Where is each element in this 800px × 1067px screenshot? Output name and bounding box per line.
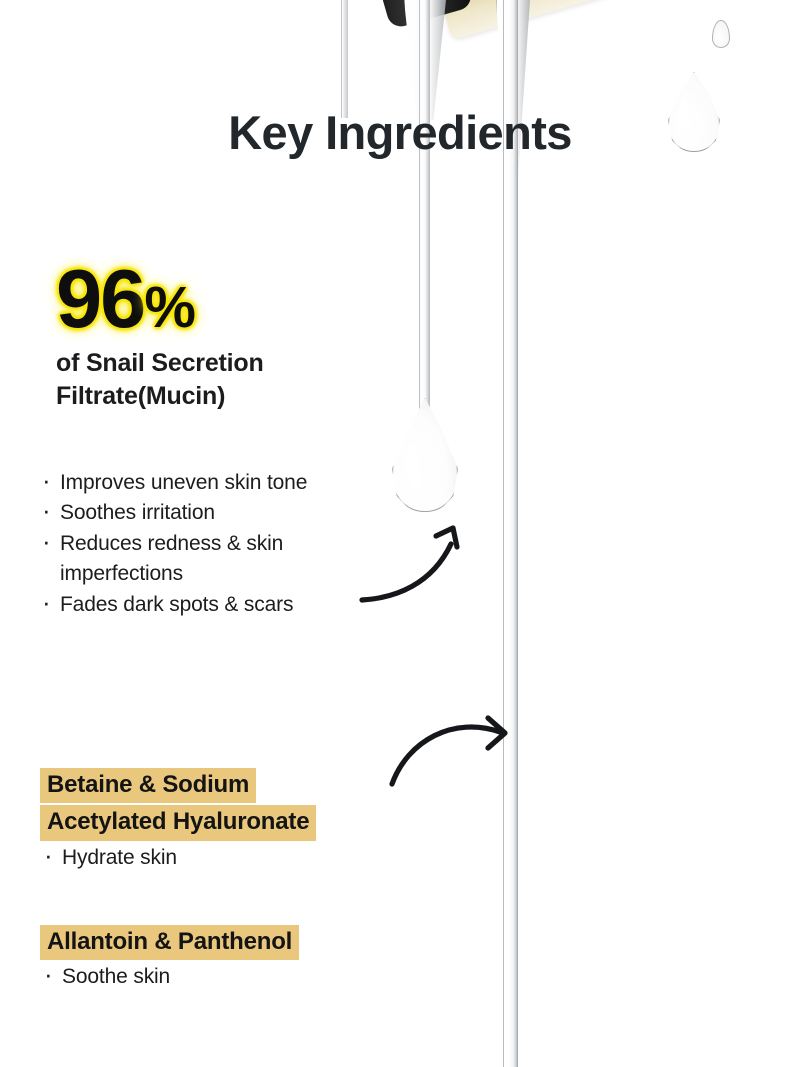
mucin-subtitle-line-2: Filtrate(Mucin) bbox=[56, 380, 416, 413]
ingredient-allantoin-benefit-list: Soothe skin bbox=[40, 962, 460, 992]
ingredient-allantoin-name-line-1: Allantoin & Panthenol bbox=[40, 925, 299, 960]
content-layer: Key Ingredients 96% of Snail Secretion F… bbox=[0, 0, 800, 1067]
list-item: Reduces redness & skin imperfections bbox=[38, 529, 398, 590]
list-item: Fades dark spots & scars bbox=[38, 590, 398, 620]
list-item: Soothes irritation bbox=[38, 498, 398, 528]
mucin-subtitle: of Snail Secretion Filtrate(Mucin) bbox=[56, 347, 416, 413]
list-item: Soothe skin bbox=[40, 962, 460, 992]
mucin-benefit-list: Improves uneven skin tone Soothes irrita… bbox=[38, 468, 398, 620]
mucin-percentage-value: 96 bbox=[56, 252, 144, 345]
ingredient-allantoin-block: Allantoin & Panthenol Soothe skin bbox=[40, 925, 460, 993]
mucin-percentage: 96% bbox=[56, 261, 416, 337]
ingredient-betaine-name-line-1: Betaine & Sodium bbox=[40, 768, 256, 803]
page-title: Key Ingredients bbox=[0, 106, 800, 160]
mucin-subtitle-line-1: of Snail Secretion bbox=[56, 347, 416, 380]
curved-arrow-right-down-icon bbox=[382, 700, 522, 792]
list-item: Improves uneven skin tone bbox=[38, 468, 398, 498]
ingredient-betaine-name-line-2: Acetylated Hyaluronate bbox=[40, 805, 316, 840]
curved-arrow-up-right-icon bbox=[358, 508, 483, 608]
ingredient-betaine-benefit-list: Hydrate skin bbox=[40, 843, 460, 873]
list-item: Hydrate skin bbox=[40, 843, 460, 873]
percent-sign: % bbox=[144, 275, 195, 340]
key-ingredients-infographic: Advanced Snail Mucin Power Essence Key I… bbox=[0, 0, 800, 1067]
mucin-stat-block: 96% of Snail Secretion Filtrate(Mucin) bbox=[56, 261, 416, 413]
